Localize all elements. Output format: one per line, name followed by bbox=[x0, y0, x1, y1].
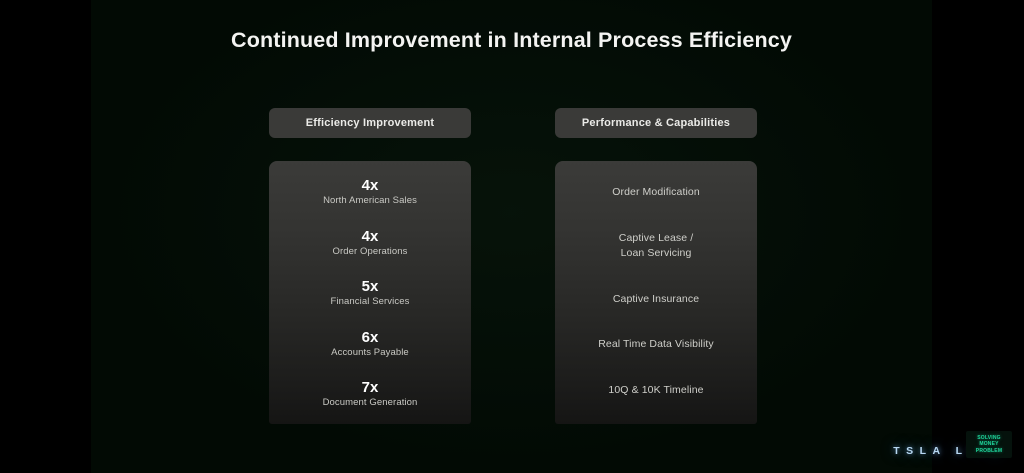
metric-value: 6x bbox=[277, 329, 463, 346]
metric-label: North American Sales bbox=[277, 194, 463, 208]
list-item: 7x Document Generation bbox=[277, 379, 463, 410]
efficiency-metric-list: 4x North American Sales 4x Order Operati… bbox=[269, 161, 471, 424]
metric-value: 4x bbox=[277, 177, 463, 194]
metric-label: Financial Services bbox=[277, 295, 463, 309]
brand-badge-text: SOLVING MONEY PROBLEM bbox=[976, 435, 1002, 454]
list-item: 4x Order Operations bbox=[277, 228, 463, 259]
list-item: Captive Lease / Loan Servicing bbox=[563, 231, 749, 261]
metric-label: Order Operations bbox=[277, 245, 463, 259]
metric-value: 7x bbox=[277, 379, 463, 396]
column-header-performance-capabilities: Performance & Capabilities bbox=[555, 108, 757, 138]
metric-label: Document Generation bbox=[277, 396, 463, 410]
list-item: 10Q & 10K Timeline bbox=[563, 383, 749, 398]
list-item: Captive Insurance bbox=[563, 292, 749, 307]
performance-capability-list: Order Modification Captive Lease / Loan … bbox=[555, 161, 757, 424]
column-performance-capabilities: Performance & Capabilities Order Modific… bbox=[555, 108, 757, 424]
efficiency-card: 4x North American Sales 4x Order Operati… bbox=[269, 161, 471, 424]
presentation-slide: Continued Improvement in Internal Proces… bbox=[91, 0, 932, 473]
page-title: Continued Improvement in Internal Proces… bbox=[91, 28, 932, 53]
column-header-efficiency-improvement: Efficiency Improvement bbox=[269, 108, 471, 138]
screen: Continued Improvement in Internal Proces… bbox=[0, 0, 1024, 473]
list-item: Order Modification bbox=[563, 185, 749, 200]
list-item: 4x North American Sales bbox=[277, 177, 463, 208]
list-item: Real Time Data Visibility bbox=[563, 337, 749, 352]
metric-label: Accounts Payable bbox=[277, 346, 463, 360]
list-item: 5x Financial Services bbox=[277, 278, 463, 309]
list-item: 6x Accounts Payable bbox=[277, 329, 463, 360]
column-efficiency-improvement: Efficiency Improvement 4x North American… bbox=[269, 108, 471, 424]
metric-value: 4x bbox=[277, 228, 463, 245]
performance-card: Order Modification Captive Lease / Loan … bbox=[555, 161, 757, 424]
brand-badge: SOLVING MONEY PROBLEM bbox=[966, 431, 1012, 458]
metric-value: 5x bbox=[277, 278, 463, 295]
